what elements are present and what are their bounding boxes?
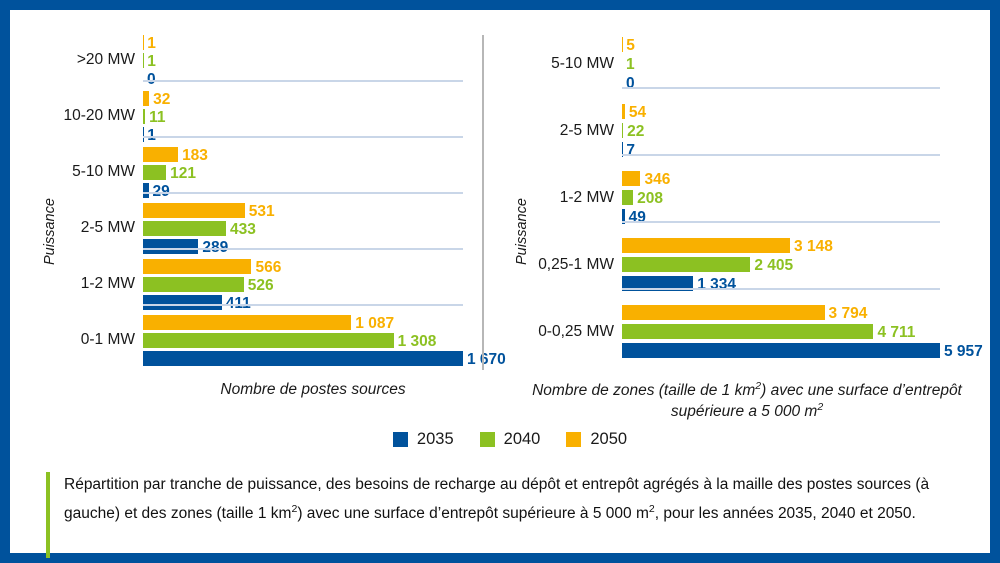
category-label: 10-20 MW	[20, 107, 135, 125]
bar-2035[interactable]	[622, 343, 940, 358]
gridline	[143, 248, 463, 250]
x-axis-title-right-sup2: 2	[817, 401, 823, 413]
bar-value-label-2035: 5 957	[944, 344, 983, 359]
charts-container: Puissance >20 MW11010-20 MW321115-10 MW1…	[20, 20, 1000, 420]
chart-panel-zones-entrepot: Puissance 5-10 MW5102-5 MW542271-2 MW346…	[492, 20, 1000, 420]
bar-2040[interactable]	[143, 221, 226, 236]
legend-item-2035[interactable]: 2035	[393, 430, 454, 449]
category-label: 0-1 MW	[20, 331, 135, 349]
category-label: 5-10 MW	[20, 163, 135, 181]
gridline	[143, 136, 463, 138]
x-axis-title-right-line2: supérieure a 5 000 m	[671, 403, 817, 420]
gridline	[143, 304, 463, 306]
legend-swatch-icon-2040	[480, 432, 495, 447]
bar-2040[interactable]	[143, 277, 244, 292]
bar-value-label-2050: 1 087	[355, 316, 394, 331]
legend-label: 2035	[417, 430, 454, 449]
bar-2040[interactable]	[143, 165, 166, 180]
bar-value-label-2040: 1	[147, 54, 156, 69]
bar-value-label-2050: 531	[249, 204, 275, 219]
bar-value-label-2050: 1	[147, 36, 156, 51]
gridline	[143, 80, 463, 82]
bar-value-label-2050: 183	[182, 148, 208, 163]
bar-2050[interactable]	[143, 259, 251, 274]
category-label: 1-2 MW	[20, 275, 135, 293]
bar-value-label-2040: 1	[626, 57, 635, 72]
caption-line1: Répartition par tranche de puissance, de…	[64, 476, 852, 493]
bar-value-label-2050: 3 794	[829, 306, 868, 321]
bar-2050[interactable]	[622, 238, 790, 253]
x-axis-title-left: Nombre de postes sources	[143, 380, 483, 399]
bar-2040[interactable]	[143, 333, 394, 348]
legend-swatch-icon-2050	[566, 432, 581, 447]
bar-value-label-2050: 346	[644, 172, 670, 187]
figure-frame: Puissance >20 MW11010-20 MW321115-10 MW1…	[0, 0, 1000, 563]
bar-value-label-2040: 208	[637, 191, 663, 206]
caption-line2b: ) avec une surface d’entrepôt supérieure…	[297, 505, 649, 522]
bar-value-label-2050: 5	[626, 38, 635, 53]
bar-2040[interactable]	[622, 324, 873, 339]
bar-value-label-2040: 4 711	[877, 325, 915, 340]
bar-2040[interactable]	[622, 190, 633, 205]
bar-2050[interactable]	[143, 147, 178, 162]
legend-swatch-icon-2035	[393, 432, 408, 447]
bar-value-label-2040: 1 308	[398, 334, 437, 349]
gridline	[622, 154, 940, 156]
chart-legend: 203520402050	[20, 425, 1000, 453]
legend-item-2050[interactable]: 2050	[566, 430, 627, 449]
bar-value-label-2035: 1	[147, 128, 156, 143]
bar-value-label-2035: 29	[153, 184, 170, 199]
caption-text: Répartition par tranche de puissance, de…	[50, 472, 976, 558]
bar-value-label-2050: 32	[153, 92, 170, 107]
bar-value-label-2040: 433	[230, 222, 256, 237]
bar-2040[interactable]	[143, 109, 145, 124]
caption-block: Répartition par tranche de puissance, de…	[46, 472, 976, 558]
bar-value-label-2050: 3 148	[794, 239, 833, 254]
bar-value-label-2040: 121	[170, 166, 196, 181]
category-label: 2-5 MW	[492, 122, 614, 140]
bar-2050[interactable]	[622, 305, 825, 320]
bar-value-label-2040: 22	[627, 124, 644, 139]
gridline	[622, 221, 940, 223]
category-label: 1-2 MW	[492, 189, 614, 207]
chart-panel-postes-sources: Puissance >20 MW11010-20 MW321115-10 MW1…	[20, 20, 482, 420]
bar-2050[interactable]	[143, 91, 149, 106]
bar-value-label-2050: 54	[629, 105, 646, 120]
category-label: 0,25-1 MW	[492, 256, 614, 274]
x-axis-title-right: Nombre de zones (taille de 1 km2) avec u…	[522, 380, 972, 421]
bar-value-label-2035: 289	[202, 240, 228, 255]
panel-divider	[482, 35, 484, 370]
gridline	[622, 87, 940, 89]
category-label: 2-5 MW	[20, 219, 135, 237]
legend-label: 2050	[590, 430, 627, 449]
bar-2035[interactable]	[143, 239, 198, 254]
bar-value-label-2050: 566	[255, 260, 281, 275]
bar-2035[interactable]	[143, 295, 222, 310]
category-label: >20 MW	[20, 51, 135, 69]
legend-label: 2040	[504, 430, 541, 449]
category-label: 0-0,25 MW	[492, 323, 614, 341]
bar-2050[interactable]	[622, 104, 625, 119]
caption-line3: 2040 et 2050.	[821, 505, 916, 522]
bar-2040[interactable]	[622, 123, 623, 138]
bar-2035[interactable]	[143, 351, 463, 366]
gridline	[622, 288, 940, 290]
bar-value-label-2035: 0	[147, 72, 156, 87]
x-axis-title-right-line1: Nombre de zones (taille de 1 km	[532, 382, 755, 399]
bar-2050[interactable]	[143, 203, 245, 218]
x-axis-title-right-line1b: ) avec une surface d’entrepôt	[761, 382, 962, 399]
category-label: 5-10 MW	[492, 55, 614, 73]
bar-2050[interactable]	[622, 171, 640, 186]
bar-value-label-2040: 2 405	[754, 258, 793, 273]
caption-line2c: , pour les années 2035,	[655, 505, 817, 522]
bar-2040[interactable]	[622, 257, 750, 272]
bar-2035[interactable]	[143, 183, 149, 198]
bar-value-label-2040: 11	[149, 110, 165, 125]
bar-value-label-2035: 411	[226, 296, 251, 311]
bar-2050[interactable]	[143, 315, 351, 330]
legend-item-2040[interactable]: 2040	[480, 430, 541, 449]
bar-value-label-2040: 526	[248, 278, 274, 293]
gridline	[143, 192, 463, 194]
